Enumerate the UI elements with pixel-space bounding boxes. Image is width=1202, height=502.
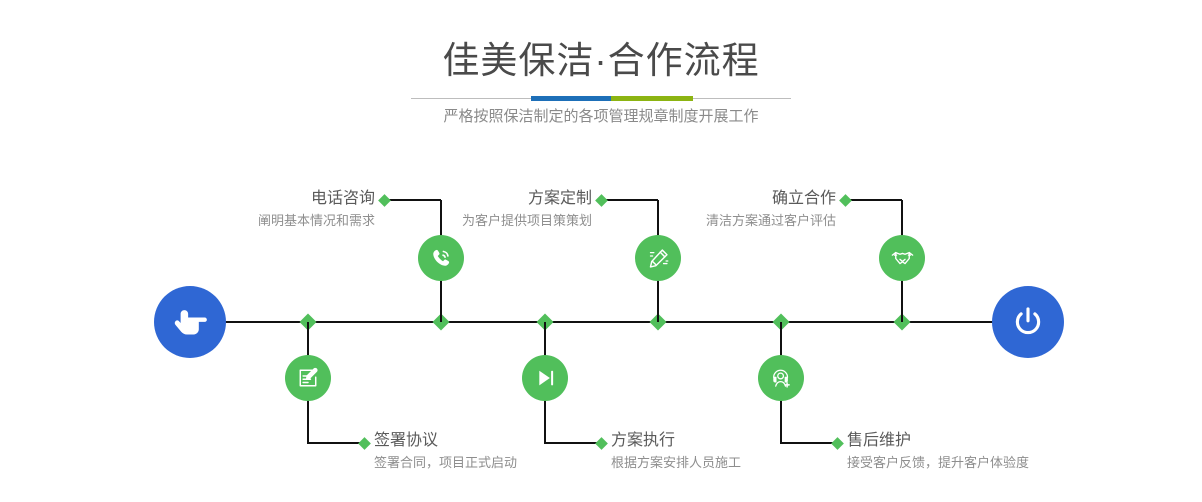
flow-end-endpoint [992, 286, 1064, 358]
divider-segment-green [611, 96, 693, 101]
step-icon-badge[interactable] [758, 355, 804, 401]
step-title: 方案定制 [332, 188, 592, 210]
title-divider [411, 96, 791, 101]
pencil-design-icon [645, 245, 672, 272]
step-label: 确立合作 清洁方案通过客户评估 [576, 188, 836, 231]
power-icon [1008, 302, 1048, 342]
step-desc: 为客户提供项目策策划 [332, 210, 592, 231]
phone-call-icon [428, 245, 454, 271]
flow-start-endpoint [154, 286, 226, 358]
step-icon-badge[interactable] [879, 235, 925, 281]
document-edit-icon [295, 365, 321, 391]
page-header: 佳美保洁·合作流程 严格按照保洁制定的各项管理规章制度开展工作 [0, 0, 1202, 140]
process-flow-diagram: 电话咨询 阐明基本情况和需求 签署协议 签署合同，项目正式启动 [0, 140, 1202, 502]
step-label: 方案定制 为客户提供项目策策划 [332, 188, 592, 231]
step-icon-badge[interactable] [635, 235, 681, 281]
customer-service-icon [768, 365, 794, 391]
label-connector-tip [839, 194, 852, 207]
step-label: 售后维护 接受客户反馈，提升客户体验度 [847, 430, 1147, 473]
label-connector-horizontal [781, 442, 837, 444]
page-title: 佳美保洁·合作流程 [0, 38, 1202, 84]
step-icon-badge[interactable] [285, 355, 331, 401]
label-connector-horizontal [545, 442, 601, 444]
step-icon-badge[interactable] [418, 235, 464, 281]
step-title: 售后维护 [847, 430, 1147, 452]
handshake-icon [889, 245, 916, 272]
label-connector-tip [358, 437, 371, 450]
page-subtitle: 严格按照保洁制定的各项管理规章制度开展工作 [0, 105, 1202, 129]
play-execute-icon [532, 365, 558, 391]
label-connector-horizontal [846, 199, 902, 201]
divider-segment-blue [531, 96, 611, 101]
step-desc: 清洁方案通过客户评估 [576, 210, 836, 231]
step-icon-badge[interactable] [522, 355, 568, 401]
label-connector-horizontal [308, 442, 364, 444]
pointing-hand-icon [170, 302, 210, 342]
step-desc: 接受客户反馈，提升客户体验度 [847, 452, 1147, 473]
step-title: 确立合作 [576, 188, 836, 210]
